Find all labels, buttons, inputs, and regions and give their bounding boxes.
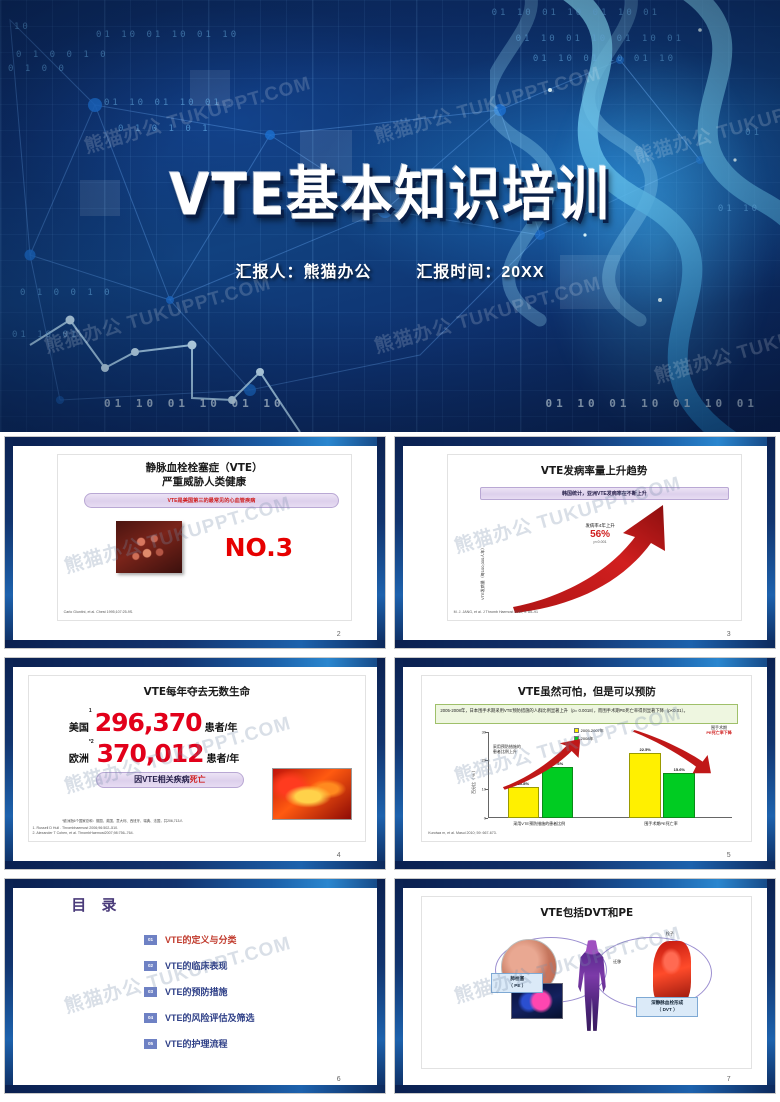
slide-frame-top <box>395 658 775 667</box>
chart-annotation-right: 围手术期 PE死亡率下降 <box>706 725 731 736</box>
thumbnail-cell[interactable]: 目 录 01 VTE的定义与分类 02 VTE的临床表现 03 VTE的预防措施 <box>0 874 390 1098</box>
label-pe: 肺栓塞 （ PE ） <box>491 973 543 993</box>
thumbnail-cell[interactable]: VTE包括DVT和PE 肺栓塞 （ PE ） 深静脉血栓形成 （ DVT ） <box>390 874 780 1098</box>
slide-5[interactable]: VTE虽然可怕，但是可以预防 2005-2008年，日本围手术期采用VTE预防措… <box>394 657 776 870</box>
annotation-value: 56% <box>585 529 615 540</box>
chart-y-axis-label: 百分比（ % ） <box>471 768 477 794</box>
slide-frame-bottom <box>395 640 775 648</box>
presenter-label: 汇报人：熊猫办公 <box>235 264 371 281</box>
chart-y-axis <box>488 732 489 818</box>
label-dvt-line1: 深静脉血栓形成 <box>640 1000 694 1007</box>
label-pe-line1: 肺栓塞 <box>495 976 539 983</box>
slide-3[interactable]: VTE发病率量上升趋势 韩国统计，亚洲VTE发病率在不断上升 VTE发病量（每1… <box>394 436 776 649</box>
slide-page-number: 2 <box>337 631 341 638</box>
label-pe-line2: （ PE ） <box>495 983 539 990</box>
slide-frame-bottom <box>5 1085 385 1093</box>
toc-label: VTE的临床表现 <box>165 959 228 972</box>
slide-thumbnail-grid: 静脉血栓栓塞症（VTE） 严重威胁人类健康 VTE是美国第三的最常见的心血管疾病… <box>0 432 780 1102</box>
slide-frame-bottom <box>395 861 775 869</box>
bar-series1-cat1 <box>508 787 540 818</box>
toc-label: VTE的风险评估及筛选 <box>165 1011 255 1024</box>
slide-page-number: 6 <box>337 1076 341 1083</box>
falling-arrow-annotation <box>615 730 727 780</box>
slide-title-line2: 严重威胁人类健康 <box>58 475 351 489</box>
toc-title: 目 录 <box>71 894 121 915</box>
slide-callout: VTE是美国第三的最常见的心血管疾病 <box>84 493 339 508</box>
toc-label: VTE的护理流程 <box>165 1037 228 1050</box>
blood-clot-photo <box>116 521 182 573</box>
slide-frame-right <box>377 879 385 1093</box>
page-title: VTE基本知识培训 <box>0 148 780 232</box>
slide-note: *欧洲指6个国家总和：德国、英国、意大利、西班牙、瑞典、法国，共206,713人 <box>62 818 183 823</box>
upward-trend-arrow <box>495 503 695 615</box>
slide-page-number: 3 <box>727 631 731 638</box>
slide-title: 静脉血栓栓塞症（VTE） 严重威胁人类健康 <box>58 461 351 489</box>
annotation-line1: 发病率4年上升 <box>585 523 615 529</box>
stat-unit: 患者/年 <box>205 719 238 734</box>
toc-item-05[interactable]: 05 VTE的护理流程 <box>144 1037 228 1050</box>
toc-label: VTE的预防措施 <box>165 985 228 998</box>
slide-inner: VTE每年夺去无数生命 美国 1 296,370 患者/年 欧洲 *2 370,… <box>13 667 377 861</box>
slide-frame-right <box>377 437 385 648</box>
toc-number: 03 <box>144 987 157 997</box>
chart-category-label: 采用VTE预防措施的患者比例 <box>513 821 565 827</box>
slide-page-number: 4 <box>337 852 341 859</box>
slide-callout: 2005-2008年，日本围手术期采用VTE预防措施的人群比例显著上升（p= 0… <box>435 704 738 724</box>
slide-frame-top <box>395 437 775 446</box>
chart-y-axis-label: VTE发病量（每100,000人年） <box>480 546 486 600</box>
toc-number: 04 <box>144 1013 157 1023</box>
slide-inner: VTE包括DVT和PE 肺栓塞 （ PE ） 深静脉血栓形成 （ DVT ） <box>403 888 767 1085</box>
callout-prefix: 因VTE相关疾病 <box>134 774 190 785</box>
slide-frame-left <box>395 658 403 869</box>
slide-6[interactable]: 目 录 01 VTE的定义与分类 02 VTE的临床表现 03 VTE的预防措施 <box>4 878 386 1094</box>
slide-frame-left <box>395 437 403 648</box>
stat-region-label: 欧洲 <box>69 750 89 765</box>
slide-title: VTE包括DVT和PE <box>422 906 751 920</box>
slide-frame-top <box>395 879 775 888</box>
thumbnail-cell[interactable]: 静脉血栓栓塞症（VTE） 严重威胁人类健康 VTE是美国第三的最常见的心血管疾病… <box>0 432 390 653</box>
thumbnail-cell[interactable]: VTE发病率量上升趋势 韩国统计，亚洲VTE发病率在不断上升 VTE发病量（每1… <box>390 432 780 653</box>
rope-knot-fire-photo <box>272 768 352 820</box>
callout-red-text: VTE是美国第三的最常见的心血管疾病 <box>167 497 255 504</box>
slide-frame-bottom <box>5 861 385 869</box>
slide-footnote: M. J. JANG, et al. J Thromb Haemost 2011… <box>454 610 538 615</box>
label-clot: 栓子 <box>666 931 674 937</box>
toc-item-01[interactable]: 01 VTE的定义与分类 <box>144 933 237 946</box>
thumbnail-cell[interactable]: VTE每年夺去无数生命 美国 1 296,370 患者/年 欧洲 *2 370,… <box>0 653 390 874</box>
slide-frame-right <box>767 658 775 869</box>
slide-content: 静脉血栓栓塞症（VTE） 严重威胁人类健康 VTE是美国第三的最常见的心血管疾病… <box>57 454 352 621</box>
chart-annotation: 发病率4年上升 56% p<0.001 <box>585 523 615 544</box>
slide-page-number: 7 <box>727 1076 731 1083</box>
label-dvt: 深静脉血栓形成 （ DVT ） <box>636 997 698 1017</box>
slide-content: VTE每年夺去无数生命 美国 1 296,370 患者/年 欧洲 *2 370,… <box>28 675 367 842</box>
slide-inner: 目 录 01 VTE的定义与分类 02 VTE的临床表现 03 VTE的预防措施 <box>13 888 377 1085</box>
slide-frame-top <box>5 658 385 667</box>
slide-4[interactable]: VTE每年夺去无数生命 美国 1 296,370 患者/年 欧洲 *2 370,… <box>4 657 386 870</box>
toc-number: 02 <box>144 961 157 971</box>
slide-frame-top <box>5 437 385 446</box>
stat-row: 美国 1 296,370 患者/年 <box>69 708 237 737</box>
slide-frame-left <box>5 879 13 1093</box>
slide-frame-bottom <box>5 640 385 648</box>
chart-annotation-left: 采用预防措施的 患者比例上升 <box>493 744 521 755</box>
footnote-line: 2. Alexander T Cohen, et al. ThrombHaemo… <box>33 831 134 836</box>
annotation-line2: PE死亡率下降 <box>706 730 731 736</box>
slide-title: VTE虽然可怕，但是可以预防 <box>422 685 751 699</box>
slide-frame-right <box>767 879 775 1093</box>
stat-row: 欧洲 *2 370,012 患者/年 <box>69 739 239 768</box>
label-migration: 迁移 <box>613 959 621 965</box>
stat-value: 296,370 <box>95 708 202 737</box>
annotation-pvalue: p<0.001 <box>585 540 615 544</box>
label-dvt-line2: （ DVT ） <box>640 1007 694 1014</box>
stat-value: 370,012 <box>97 739 204 768</box>
big-number-text: NO.3 <box>225 533 294 562</box>
slide-inner: 静脉血栓栓塞症（VTE） 严重威胁人类健康 VTE是美国第三的最常见的心血管疾病… <box>13 446 377 640</box>
slide-frame-right <box>377 658 385 869</box>
slide-footnote: 1. Russell D Hull . Thrombhaemost 2006;9… <box>33 826 134 837</box>
slide-2[interactable]: 静脉血栓栓塞症（VTE） 严重威胁人类健康 VTE是美国第三的最常见的心血管疾病… <box>4 436 386 649</box>
toc-item-04[interactable]: 04 VTE的风险评估及筛选 <box>144 1011 255 1024</box>
annotation-line2: 患者比例上升 <box>493 749 521 755</box>
stat-superscript: 1 <box>89 708 92 714</box>
slide-content: VTE包括DVT和PE 肺栓塞 （ PE ） 深静脉血栓形成 （ DVT ） <box>421 896 752 1069</box>
slide-content: VTE发病率量上升趋势 韩国统计，亚洲VTE发病率在不断上升 VTE发病量（每1… <box>447 454 742 621</box>
y-tick-mark <box>485 818 488 819</box>
slide-inner: VTE发病率量上升趋势 韩国统计，亚洲VTE发病率在不断上升 VTE发病量（每1… <box>403 446 767 640</box>
slide-7[interactable]: VTE包括DVT和PE 肺栓塞 （ PE ） 深静脉血栓形成 （ DVT ） <box>394 878 776 1094</box>
callout-red-text: 死亡 <box>190 774 206 785</box>
stat-superscript: *2 <box>89 739 94 745</box>
slide-footnote: Carlo Giuntini, et al. Chest 1995;107:25… <box>64 610 134 615</box>
slide-frame-right <box>767 437 775 648</box>
slide-page-number: 5 <box>727 852 731 859</box>
slide-inner: VTE虽然可怕，但是可以预防 2005-2008年，日本围手术期采用VTE预防措… <box>403 667 767 861</box>
stat-region-label: 美国 <box>69 719 89 734</box>
thumbnail-cell[interactable]: VTE虽然可怕，但是可以预防 2005-2008年，日本围手术期采用VTE预防措… <box>390 653 780 874</box>
slide-frame-bottom <box>395 1085 775 1093</box>
slide-frame-left <box>5 437 13 648</box>
slide-callout: 韩国统计，亚洲VTE发病率在不断上升 <box>480 487 729 500</box>
slide-content: 目 录 01 VTE的定义与分类 02 VTE的临床表现 03 VTE的预防措施 <box>13 888 377 1085</box>
toc-item-03[interactable]: 03 VTE的预防措施 <box>144 985 228 998</box>
chart-category-label: 围手术期PE死亡率 <box>644 821 677 827</box>
toc-number: 01 <box>144 935 157 945</box>
cover-slide: 01 10 01 10 01 10 10 0 1 0 0 1 0 0 1 0 0… <box>0 0 780 432</box>
toc-label: VTE的定义与分类 <box>165 933 237 946</box>
toc-number: 05 <box>144 1039 157 1049</box>
date-label: 汇报时间：20XX <box>416 264 544 281</box>
slide-frame-top <box>5 879 385 888</box>
y-tick-mark <box>485 760 488 761</box>
bar-chart: 0 10 20 30 百分比（ % ） 10.8% 17.6% <box>488 732 732 818</box>
slide-title: VTE发病率量上升趋势 <box>448 464 741 478</box>
stat-unit: 患者/年 <box>207 750 240 765</box>
slide-content: VTE虽然可怕，但是可以预防 2005-2008年，日本围手术期采用VTE预防措… <box>421 675 752 842</box>
y-tick-mark <box>485 789 488 790</box>
slide-footnote: Kuroiwa m, et al. Masui 2010; 59: 667-67… <box>428 831 497 836</box>
y-tick-mark <box>485 732 488 733</box>
slide-callout: 因VTE相关疾病死亡 <box>96 772 244 788</box>
slide-frame-left <box>395 879 403 1093</box>
cover-subtitle: 汇报人：熊猫办公 汇报时间：20XX <box>0 258 780 282</box>
slide-title: VTE每年夺去无数生命 <box>29 685 366 699</box>
slide-title-line1: 静脉血栓栓塞症（VTE） <box>58 461 351 475</box>
slide-frame-left <box>5 658 13 869</box>
toc-item-02[interactable]: 02 VTE的临床表现 <box>144 959 228 972</box>
